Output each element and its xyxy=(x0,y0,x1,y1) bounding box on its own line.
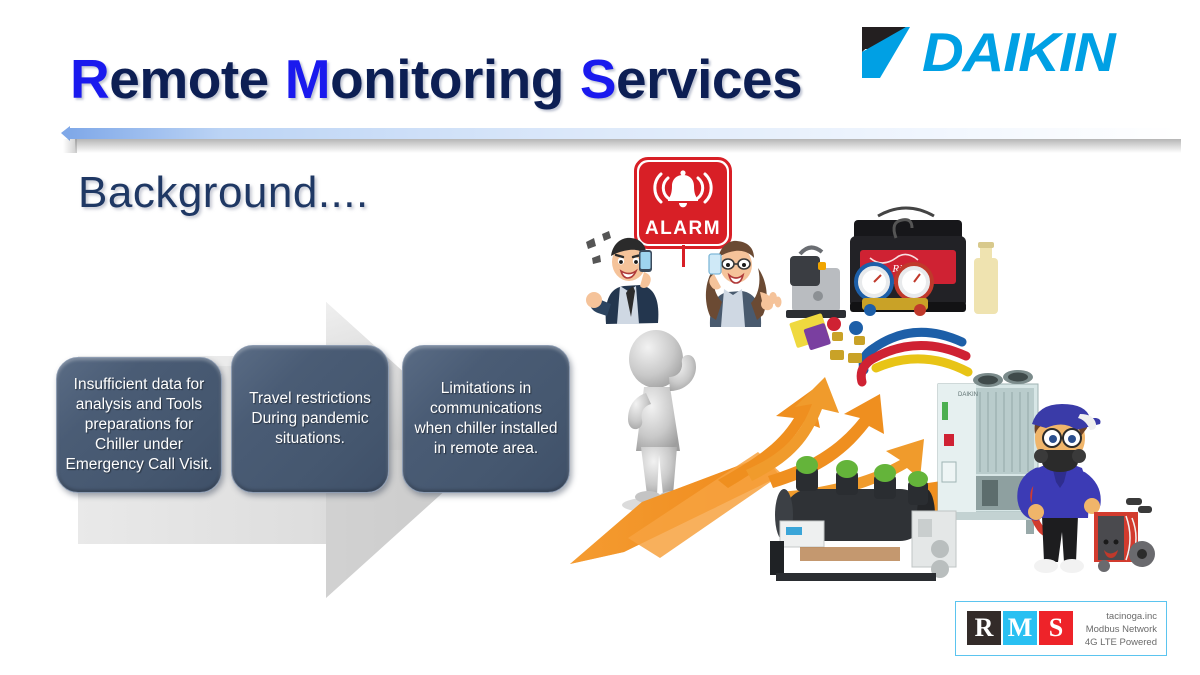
rms-badge-caption: tacinoga.inc Modbus Network 4G LTE Power… xyxy=(1085,611,1157,649)
angry-man-on-phone-illustration xyxy=(576,228,681,338)
rms-badge: R M S tacinoga.inc Modbus Network 4G LTE… xyxy=(955,601,1167,656)
callout-text: Travel restrictions During pandemic situ… xyxy=(240,389,380,449)
water-cooled-chiller-unit-photo xyxy=(762,445,972,585)
title-initial: R xyxy=(70,48,109,110)
hvac-technician-with-cart-illustration xyxy=(1008,394,1156,582)
header-rule xyxy=(68,128,1178,139)
hvac-manifold-gauge-tool-kit-photo: Ritchie xyxy=(778,198,1028,388)
alarm-sign-post xyxy=(682,245,685,267)
callout-box[interactable]: Insufficient data for analysis and Tools… xyxy=(56,357,222,493)
daikin-logo-mark xyxy=(860,25,926,80)
title-initial: S xyxy=(580,48,616,110)
bell-icon xyxy=(652,169,714,213)
rms-caption-line: 4G LTE Powered xyxy=(1085,637,1157,650)
title-initial: M xyxy=(285,48,330,110)
svg-text:DAIKIN: DAIKIN xyxy=(958,392,978,398)
section-subtitle: Background.... xyxy=(78,168,369,218)
callout-text: Insufficient data for analysis and Tools… xyxy=(65,375,213,476)
page-title: RemoteMonitoringServices xyxy=(70,52,818,107)
daikin-logo: DAIKIN xyxy=(860,22,1160,82)
rms-letter-s: S xyxy=(1039,611,1073,645)
callout-box[interactable]: Travel restrictions During pandemic situ… xyxy=(231,345,389,493)
title-word: Monitoring xyxy=(285,48,564,110)
title-rest: ervices xyxy=(616,48,802,110)
rms-caption-line: tacinoga.inc xyxy=(1085,611,1157,624)
rms-caption-line: Modbus Network xyxy=(1085,624,1157,637)
daikin-wordmark: DAIKIN xyxy=(922,20,1115,84)
slide-root: DAIKIN RemoteMonitoringServices Backgrou… xyxy=(0,0,1200,675)
title-word: Services xyxy=(580,48,802,110)
rms-letter-r: R xyxy=(967,611,1001,645)
callout-box[interactable]: Limitations in communications when chill… xyxy=(402,345,570,493)
header-shadow-band xyxy=(75,139,1181,153)
angry-woman-on-phone-illustration xyxy=(688,232,788,337)
callout-text: Limitations in communications when chill… xyxy=(411,379,561,460)
title-rest: emote xyxy=(109,48,269,110)
rms-letter-m: M xyxy=(1003,611,1037,645)
title-rest: onitoring xyxy=(330,48,564,110)
title-word: Remote xyxy=(70,48,269,110)
